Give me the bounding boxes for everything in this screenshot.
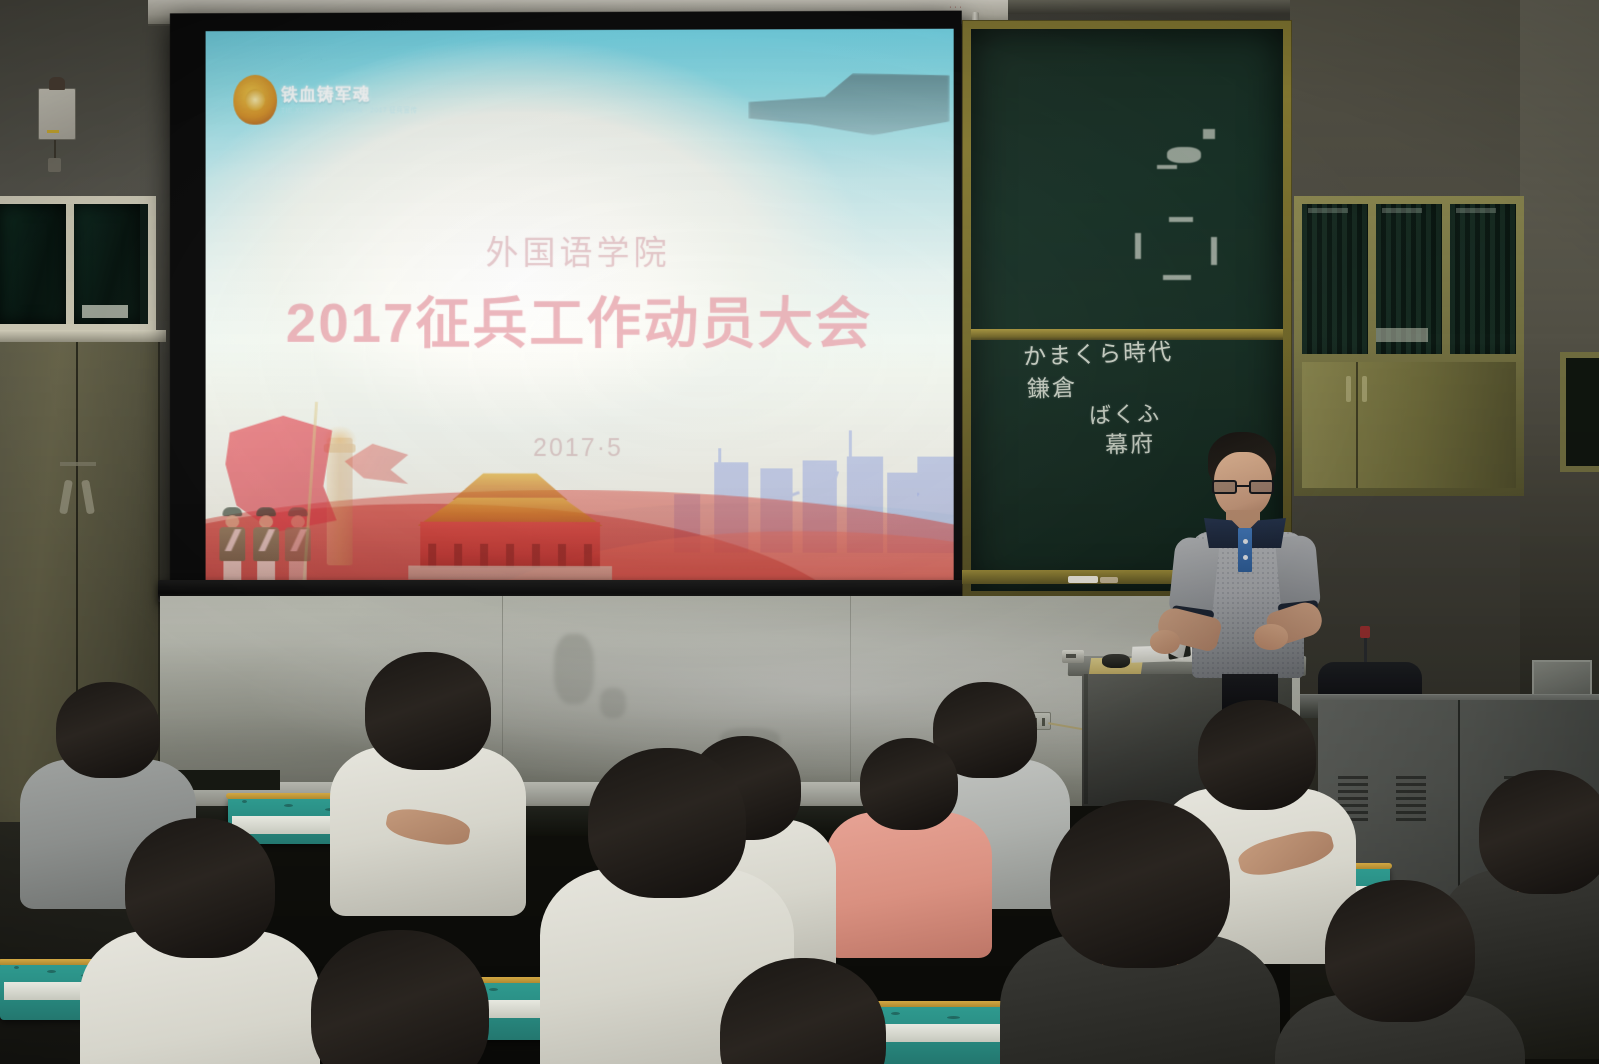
student-shirt <box>826 812 992 958</box>
student-head <box>1325 880 1475 1022</box>
student-head <box>1050 800 1230 968</box>
student <box>826 738 992 976</box>
desk-wear-mark <box>14 966 19 969</box>
student-head <box>56 682 160 778</box>
student-head <box>311 930 489 1064</box>
student <box>660 958 946 1064</box>
student <box>1000 800 1280 1064</box>
student-head <box>860 738 958 830</box>
desk-wear-mark <box>947 1016 960 1019</box>
student-head <box>365 652 491 770</box>
student-head <box>1479 770 1599 894</box>
student-head <box>720 958 886 1064</box>
student-audience <box>0 0 1599 1064</box>
student-head <box>1198 700 1316 810</box>
student <box>330 652 526 940</box>
student-head <box>588 748 746 898</box>
classroom-scene: · · · · · · 铁血铸军魂 TIE XUE ZHU JUN HUN · … <box>0 0 1599 1064</box>
student <box>1275 880 1525 1064</box>
desk-wear-mark <box>284 804 293 807</box>
student <box>250 930 550 1064</box>
desk-wear-mark <box>47 970 56 973</box>
desk-wear-mark <box>242 800 247 803</box>
